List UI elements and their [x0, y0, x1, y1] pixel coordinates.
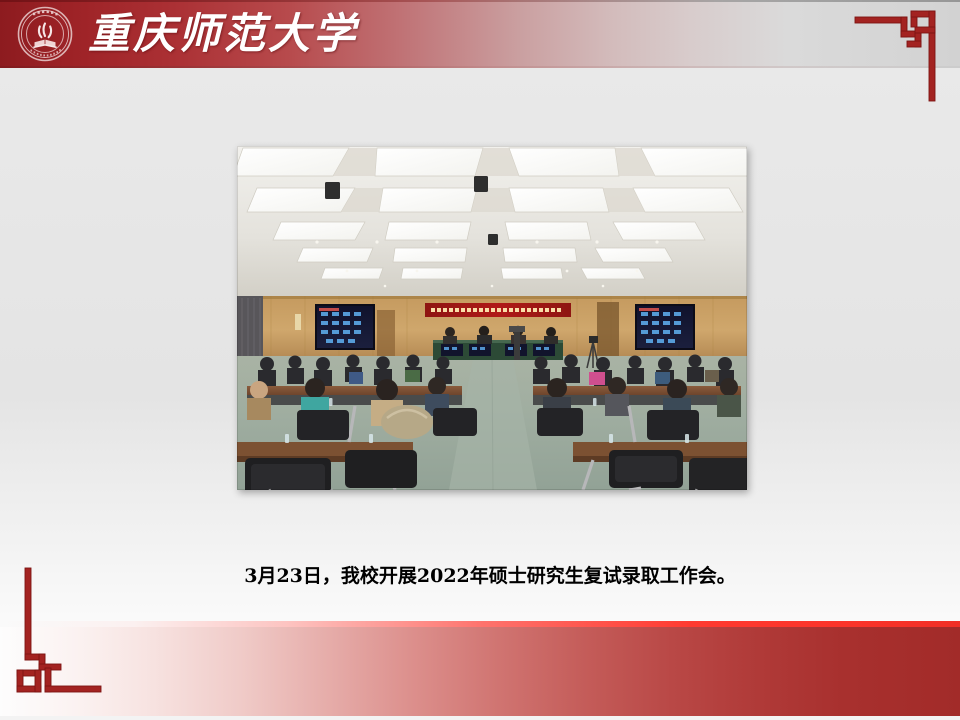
header-bottom-hairline	[0, 66, 960, 68]
university-seal-icon	[17, 6, 73, 62]
university-name: 重庆师范大学	[88, 4, 338, 64]
footer-edge-line	[0, 716, 960, 720]
header-top-hairline	[0, 0, 960, 2]
footer-band	[0, 627, 960, 716]
photo-frame	[237, 146, 747, 490]
slide-canvas: 重庆师范大学	[0, 0, 960, 720]
corner-ornament-top-right-icon	[852, 8, 948, 104]
corner-ornament-bottom-left-icon	[12, 566, 108, 706]
slide-caption: 3月23日，我校开展2022年硕士研究生复试录取工作会。	[120, 562, 860, 590]
conference-photo	[237, 146, 747, 490]
